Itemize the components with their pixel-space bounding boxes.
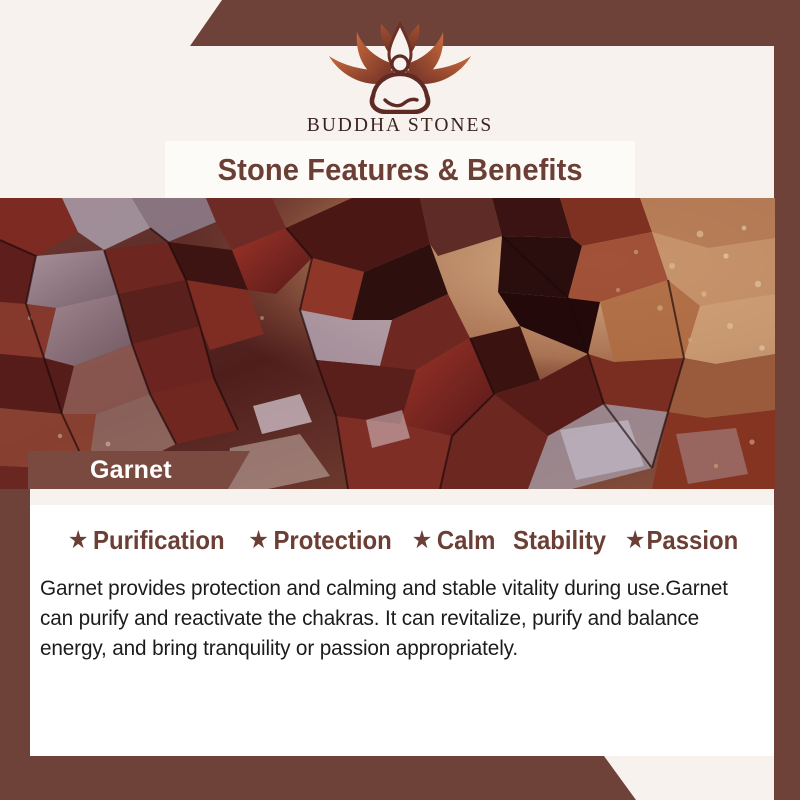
- brand-name: BUDDHA STONES: [307, 115, 494, 137]
- benefit-label: Calm: [436, 527, 494, 553]
- content-panel: ★ Purification ★ Protection ★ Calm ★ Sta…: [30, 505, 774, 756]
- benefits-row: ★ Purification ★ Protection ★ Calm ★ Sta…: [30, 527, 774, 553]
- stone-name-tag: Garnet: [28, 451, 250, 489]
- title-banner: Stone Features & Benefits: [165, 141, 635, 198]
- brand-logo-block: BUDDHA STONES: [0, 22, 800, 142]
- page-title: Stone Features & Benefits: [217, 152, 582, 188]
- lotus-meditation-icon: [307, 22, 493, 114]
- benefit-item-protection: ★ Protection: [248, 527, 392, 553]
- star-icon: ★: [411, 528, 432, 553]
- benefit-item-calm: ★ Calm: [411, 527, 495, 553]
- garnet-photo: [0, 198, 775, 489]
- benefit-label: Passion: [646, 527, 738, 553]
- stone-description: Garnet provides protection and calming a…: [40, 573, 739, 663]
- stone-name-label: Garnet: [90, 456, 172, 485]
- benefit-label: Stability: [513, 527, 606, 553]
- benefit-label: Protection: [273, 527, 391, 553]
- frame-band-bottom: [0, 756, 800, 800]
- benefit-item-purification: ★ Purification: [68, 527, 225, 553]
- poster-canvas: BUDDHA STONES Stone Features & Benefits: [0, 0, 800, 800]
- benefit-item-stability: ★ Stability: [513, 527, 606, 553]
- star-icon: ★: [625, 528, 646, 553]
- star-icon: ★: [248, 528, 269, 553]
- star-icon: ★: [68, 528, 89, 553]
- benefit-label: Purification: [93, 527, 225, 553]
- benefit-item-passion: ★ Passion: [625, 527, 738, 553]
